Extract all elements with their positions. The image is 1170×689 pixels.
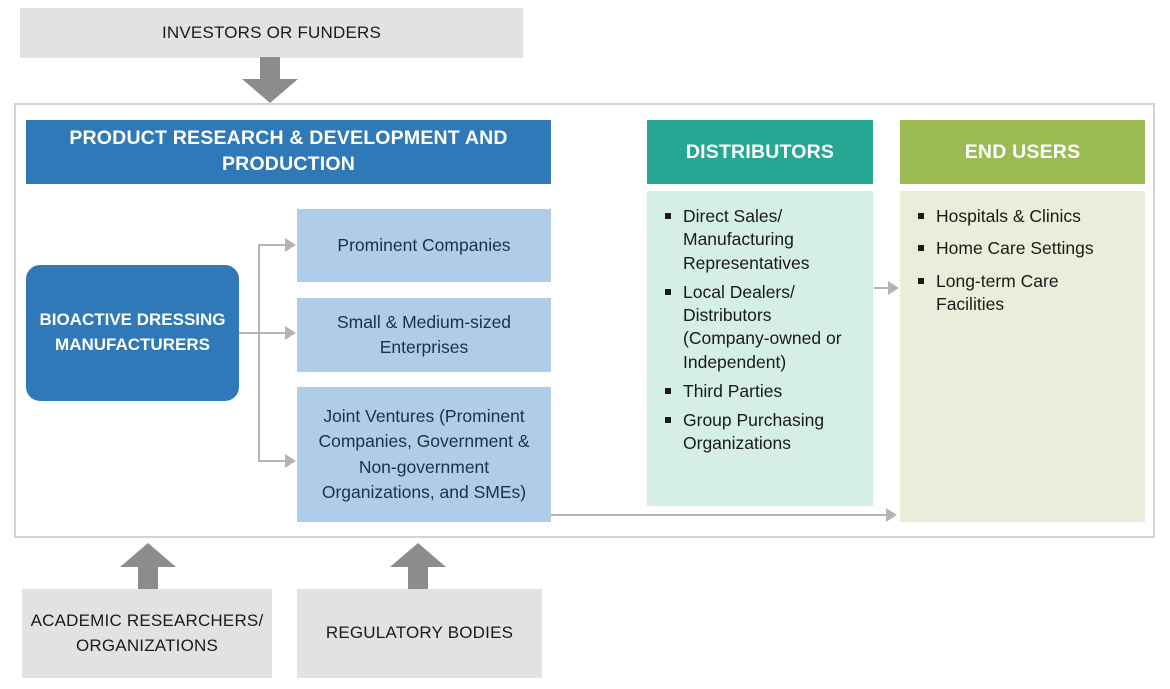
- arrow-up-academic-researchers-icon: [117, 543, 179, 591]
- end-users-body: Hospitals & Clinics Home Care Settings L…: [900, 191, 1145, 522]
- connector-branch-3: [258, 460, 286, 462]
- end-users-list: Hospitals & Clinics Home Care Settings L…: [916, 205, 1131, 316]
- connector-trunk: [258, 244, 260, 462]
- list-item: Direct Sales/ Manufacturing Representati…: [663, 205, 859, 275]
- manufacturers-label: BIOACTIVE DRESSING MANUFACTURERS: [26, 308, 239, 357]
- distributors-body: Direct Sales/ Manufacturing Representati…: [647, 191, 873, 506]
- value-chain-diagram: INVESTORS OR FUNDERS PRODUCT RESEARCH & …: [0, 0, 1170, 689]
- list-item: Hospitals & Clinics: [916, 205, 1131, 228]
- list-item: Local Dealers/ Distributors (Company-own…: [663, 281, 859, 374]
- academic-researchers-label: ACADEMIC RESEARCHERS/ ORGANIZATIONS: [22, 609, 272, 657]
- connector-arrowhead-2-icon: [285, 326, 296, 340]
- production-header: PRODUCT RESEARCH & DEVELOPMENT AND PRODU…: [26, 120, 551, 184]
- end-users-header-label: END USERS: [965, 141, 1081, 164]
- sub-box-small-medium-enterprises-label: Small & Medium-sized Enterprises: [307, 310, 541, 361]
- arrow-up-regulatory-bodies-icon: [387, 543, 449, 591]
- connector-arrowhead-3-icon: [285, 454, 296, 468]
- connector-branch-1: [258, 244, 286, 246]
- regulatory-bodies-box: REGULATORY BODIES: [297, 589, 542, 678]
- sub-box-joint-ventures-label: Joint Ventures (Prominent Companies, Gov…: [307, 404, 541, 506]
- list-item: Group Purchasing Organizations: [663, 409, 859, 456]
- academic-researchers-box: ACADEMIC RESEARCHERS/ ORGANIZATIONS: [22, 589, 272, 678]
- distributors-header-label: DISTRIBUTORS: [686, 141, 834, 164]
- regulatory-bodies-label: REGULATORY BODIES: [326, 621, 513, 645]
- sub-box-prominent-companies: Prominent Companies: [297, 209, 551, 282]
- sub-box-prominent-companies-label: Prominent Companies: [337, 233, 510, 258]
- bioactive-dressing-manufacturers-node: BIOACTIVE DRESSING MANUFACTURERS: [26, 265, 239, 401]
- connector-production-to-end-users-arrowhead-icon: [886, 508, 897, 522]
- connector-branch-2: [258, 332, 286, 334]
- connector-distributors-to-end-users-arrowhead-icon: [888, 281, 899, 295]
- sub-box-joint-ventures: Joint Ventures (Prominent Companies, Gov…: [297, 387, 551, 522]
- sub-box-small-medium-enterprises: Small & Medium-sized Enterprises: [297, 298, 551, 372]
- connector-arrowhead-1-icon: [285, 238, 296, 252]
- end-users-header: END USERS: [900, 120, 1145, 184]
- distributors-header: DISTRIBUTORS: [647, 120, 873, 184]
- investors-or-funders-box: INVESTORS OR FUNDERS: [20, 8, 523, 58]
- arrow-down-investors-icon: [238, 57, 302, 104]
- connector-stem: [239, 332, 260, 334]
- production-header-label: PRODUCT RESEARCH & DEVELOPMENT AND PRODU…: [42, 126, 535, 177]
- list-item: Home Care Settings: [916, 237, 1131, 260]
- list-item: Third Parties: [663, 380, 859, 403]
- list-item: Long-term Care Facilities: [916, 270, 1131, 317]
- connector-production-to-end-users: [551, 514, 889, 516]
- investors-or-funders-label: INVESTORS OR FUNDERS: [162, 21, 381, 45]
- distributors-list: Direct Sales/ Manufacturing Representati…: [663, 205, 859, 456]
